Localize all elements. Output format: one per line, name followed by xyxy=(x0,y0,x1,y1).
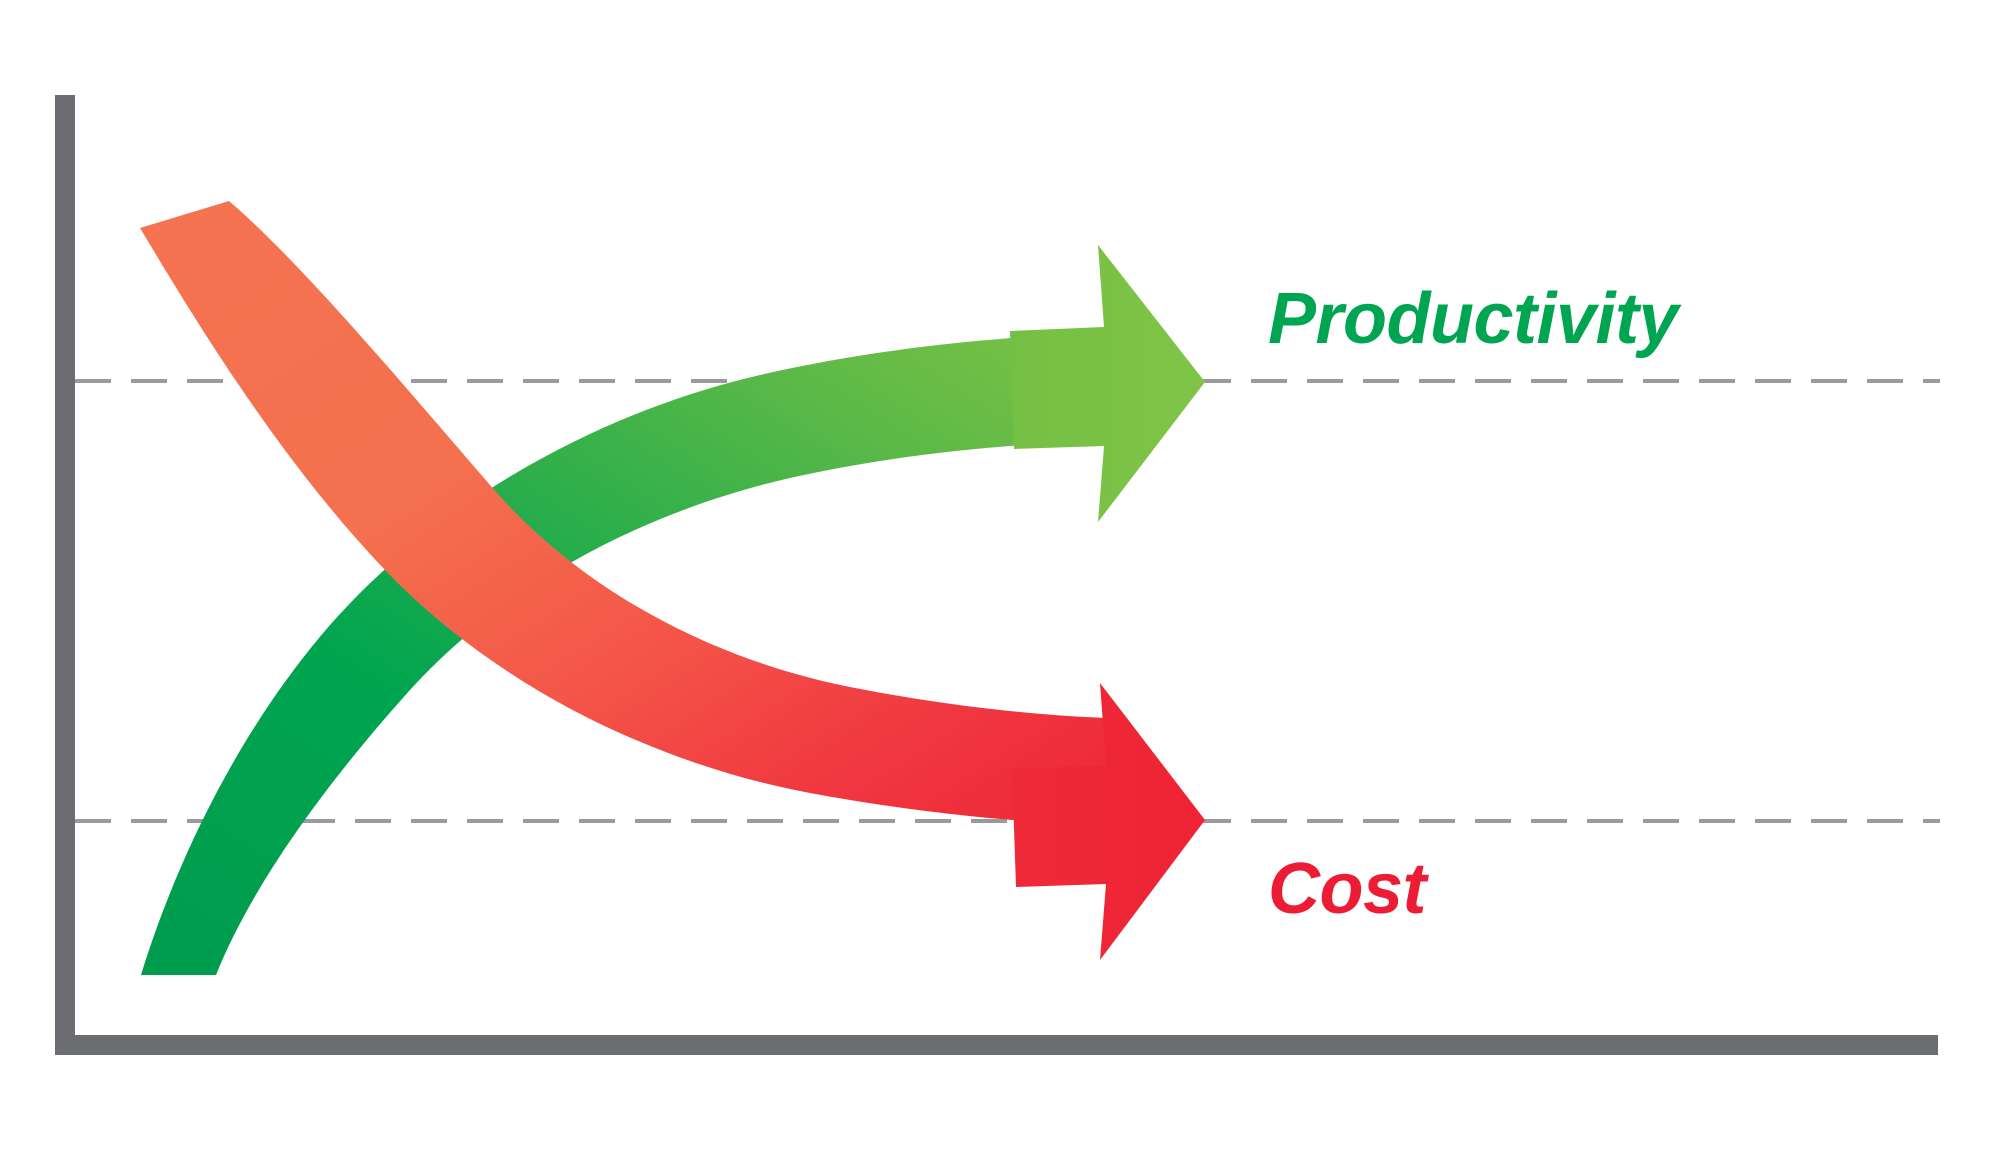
y-axis-line xyxy=(55,95,75,1055)
productivity-arrow-head xyxy=(1010,245,1205,522)
x-axis-line xyxy=(55,1035,1938,1055)
chart-canvas: Productivity Cost xyxy=(0,0,2000,1167)
crossing-arrows-chart xyxy=(0,0,2000,1167)
productivity-series-label: Productivity xyxy=(1268,283,1678,355)
cost-arrow xyxy=(140,201,1205,960)
cost-series-label: Cost xyxy=(1268,853,1426,925)
axis-lines xyxy=(55,95,1938,1055)
